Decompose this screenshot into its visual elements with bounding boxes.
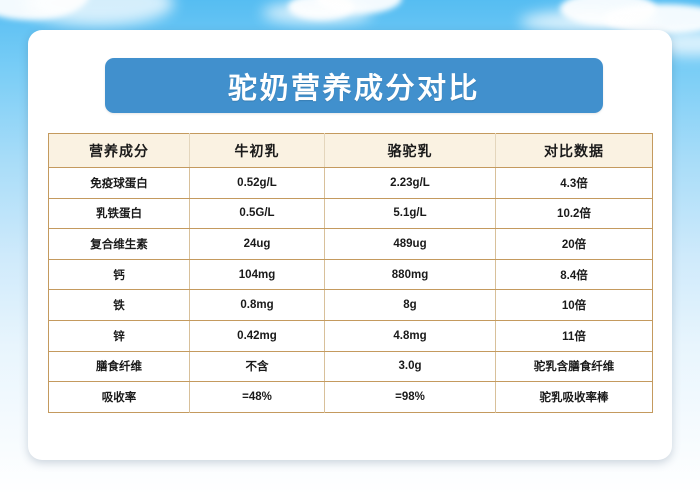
column-header-colostrum: 牛初乳 bbox=[190, 134, 325, 168]
cell-colostrum: 0.42mg bbox=[190, 320, 325, 351]
poster-canvas: 驼奶营养成分对比 营养成分 牛初乳 骆驼乳 对比数据 免疫球蛋白0.52g/L2… bbox=[0, 0, 700, 495]
cell-nutrient: 免疫球蛋白 bbox=[49, 168, 190, 199]
cell-nutrient: 吸收率 bbox=[49, 382, 190, 413]
cell-camel: 5.1g/L bbox=[325, 198, 496, 229]
cell-colostrum: 24ug bbox=[190, 229, 325, 260]
cell-comparison: 11倍 bbox=[496, 320, 653, 351]
page-title: 驼奶营养成分对比 bbox=[228, 65, 480, 107]
column-header-comparison: 对比数据 bbox=[496, 134, 653, 168]
cell-comparison: 驼乳吸收率棒 bbox=[496, 382, 653, 413]
cell-nutrient: 铁 bbox=[49, 290, 190, 321]
cell-nutrient: 膳食纤维 bbox=[49, 351, 190, 382]
cell-comparison: 20倍 bbox=[496, 229, 653, 260]
cell-comparison: 10倍 bbox=[496, 290, 653, 321]
cell-camel: 8g bbox=[325, 290, 496, 321]
table-row: 膳食纤维不含3.0g驼乳含膳食纤维 bbox=[49, 351, 653, 382]
table-row: 吸收率=48%=98%驼乳吸收率棒 bbox=[49, 382, 653, 413]
cloud-icon bbox=[262, 2, 372, 24]
table-row: 复合维生素24ug489ug20倍 bbox=[49, 229, 653, 260]
table-row: 乳铁蛋白0.5G/L5.1g/L10.2倍 bbox=[49, 198, 653, 229]
cell-comparison: 8.4倍 bbox=[496, 259, 653, 290]
cell-camel: =98% bbox=[325, 382, 496, 413]
table-row: 钙104mg880mg8.4倍 bbox=[49, 259, 653, 290]
cell-comparison: 10.2倍 bbox=[496, 198, 653, 229]
cell-nutrient: 乳铁蛋白 bbox=[49, 198, 190, 229]
cell-colostrum: 104mg bbox=[190, 259, 325, 290]
cell-camel: 3.0g bbox=[325, 351, 496, 382]
table-row: 免疫球蛋白0.52g/L2.23g/L4.3倍 bbox=[49, 168, 653, 199]
cell-colostrum: 0.52g/L bbox=[190, 168, 325, 199]
table-header-row: 营养成分 牛初乳 骆驼乳 对比数据 bbox=[49, 134, 653, 168]
cell-colostrum: 不含 bbox=[190, 351, 325, 382]
cell-camel: 489ug bbox=[325, 229, 496, 260]
table-row: 锌0.42mg4.8mg11倍 bbox=[49, 320, 653, 351]
nutrition-comparison-table: 营养成分 牛初乳 骆驼乳 对比数据 免疫球蛋白0.52g/L2.23g/L4.3… bbox=[48, 133, 653, 413]
cell-camel: 4.8mg bbox=[325, 320, 496, 351]
cell-colostrum: =48% bbox=[190, 382, 325, 413]
column-header-camel: 骆驼乳 bbox=[325, 134, 496, 168]
cloud-icon bbox=[24, 0, 174, 26]
title-banner: 驼奶营养成分对比 bbox=[105, 58, 603, 113]
table-row: 铁0.8mg8g10倍 bbox=[49, 290, 653, 321]
cell-nutrient: 钙 bbox=[49, 259, 190, 290]
cell-nutrient: 锌 bbox=[49, 320, 190, 351]
table-body: 免疫球蛋白0.52g/L2.23g/L4.3倍乳铁蛋白0.5G/L5.1g/L1… bbox=[49, 168, 653, 413]
cell-camel: 2.23g/L bbox=[325, 168, 496, 199]
cell-colostrum: 0.5G/L bbox=[190, 198, 325, 229]
cell-camel: 880mg bbox=[325, 259, 496, 290]
cell-comparison: 4.3倍 bbox=[496, 168, 653, 199]
cell-nutrient: 复合维生素 bbox=[49, 229, 190, 260]
cell-colostrum: 0.8mg bbox=[190, 290, 325, 321]
cell-comparison: 驼乳含膳食纤维 bbox=[496, 351, 653, 382]
column-header-nutrient: 营养成分 bbox=[49, 134, 190, 168]
